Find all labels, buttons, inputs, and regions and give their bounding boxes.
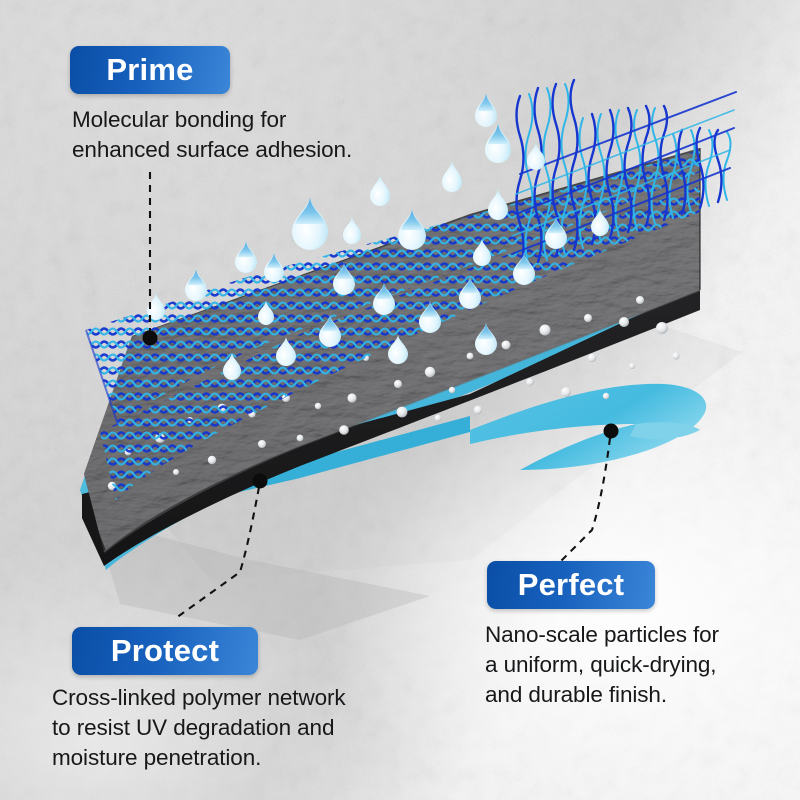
anchor-dot-perfect bbox=[604, 424, 619, 439]
badge-protect[interactable]: Protect bbox=[72, 627, 258, 675]
infographic-canvas: Prime Molecular bonding for enhanced sur… bbox=[0, 0, 800, 800]
anchor-dot-prime bbox=[143, 331, 158, 346]
badge-prime[interactable]: Prime bbox=[70, 46, 230, 94]
description-protect: Cross-linked polymer network to resist U… bbox=[52, 683, 346, 773]
badge-perfect[interactable]: Perfect bbox=[487, 561, 655, 609]
description-prime: Molecular bonding for enhanced surface a… bbox=[72, 105, 352, 165]
anchor-dot-protect bbox=[253, 474, 268, 489]
description-perfect: Nano-scale particles for a uniform, quic… bbox=[485, 620, 719, 710]
